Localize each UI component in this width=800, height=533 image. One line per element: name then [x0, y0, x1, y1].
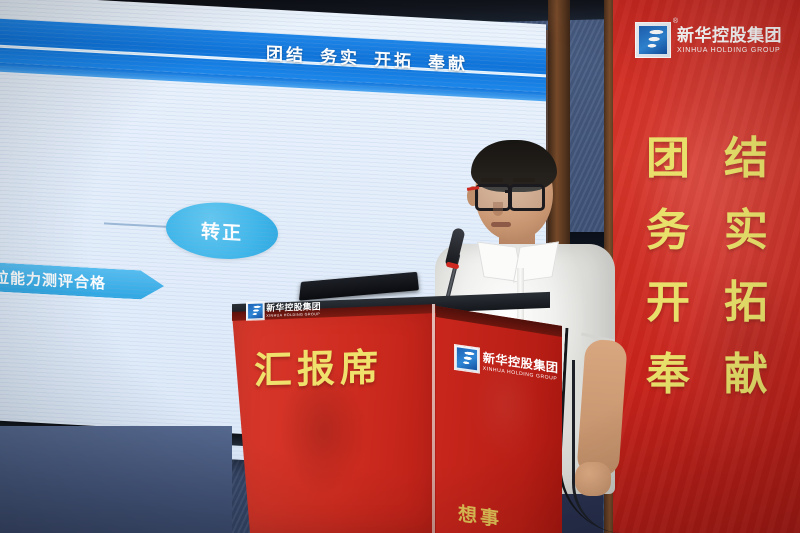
speaker-eyebrow-right	[513, 178, 535, 182]
slide-slogan-char-4: 奉献	[428, 53, 468, 74]
slide-slogan-char-2: 务实	[320, 47, 360, 68]
xinhua-logo-icon	[454, 344, 480, 374]
xinhua-logo-icon: ®	[635, 22, 671, 58]
podium-title: 汇报席	[254, 336, 383, 395]
banner-char-1: 团	[631, 118, 705, 190]
podium-side-panel	[436, 300, 562, 533]
podium-logo-front-en: XINHUA HOLDING GROUP	[266, 312, 321, 318]
cable	[572, 360, 635, 533]
banner-char-3: 务	[631, 190, 705, 262]
speaker-eyebrow-left	[481, 178, 503, 182]
stage-floor	[0, 426, 232, 533]
podium-corner-seam	[432, 304, 435, 533]
diagram-connector-line	[104, 222, 168, 227]
conference-photo: 团结务实开拓奉献 转正 岗位能力测评合格 ® 新华控股集团 XINHUA HOL…	[0, 0, 800, 533]
banner-logo-text: 新华控股集团 XINHUA HOLDING GROUP	[677, 27, 782, 54]
glasses-lens-right	[509, 184, 545, 211]
banner-char-2: 结	[709, 118, 783, 190]
podium: 新华控股集团 XINHUA HOLDING GROUP 汇报席 新华控股集团 X…	[232, 286, 562, 533]
speaker-nose	[493, 202, 503, 216]
podium-logo-front-text: 新华控股集团 XINHUA HOLDING GROUP	[266, 302, 321, 318]
banner-char-4: 实	[709, 190, 783, 262]
banner-logo-en: XINHUA HOLDING GROUP	[677, 47, 782, 54]
banner-logo: ® 新华控股集团 XINHUA HOLDING GROUP	[635, 22, 782, 58]
banner-char-6: 拓	[709, 262, 783, 334]
banner-char-8: 献	[709, 334, 783, 406]
diagram-chevron-step: 岗位能力测评合格	[0, 261, 164, 301]
speaker-mouth	[491, 222, 511, 227]
registered-mark-icon: ®	[673, 18, 678, 25]
podium-logo-front-cn: 新华控股集团	[266, 302, 321, 313]
glasses-bridge	[505, 190, 511, 193]
banner-logo-cn: 新华控股集团	[677, 27, 782, 44]
banner-char-5: 开	[631, 262, 705, 334]
diagram-chevron-label: 岗位能力测评合格	[0, 266, 106, 294]
slide-slogan-char-3: 开拓	[374, 50, 414, 71]
diagram-node-ellipse: 转正	[166, 200, 278, 262]
podium-logo-front: 新华控股集团 XINHUA HOLDING GROUP	[246, 299, 321, 320]
slide-slogan-char-1: 团结	[266, 44, 306, 65]
diagram-node-label: 转正	[201, 216, 243, 245]
xinhua-logo-icon	[246, 301, 265, 320]
